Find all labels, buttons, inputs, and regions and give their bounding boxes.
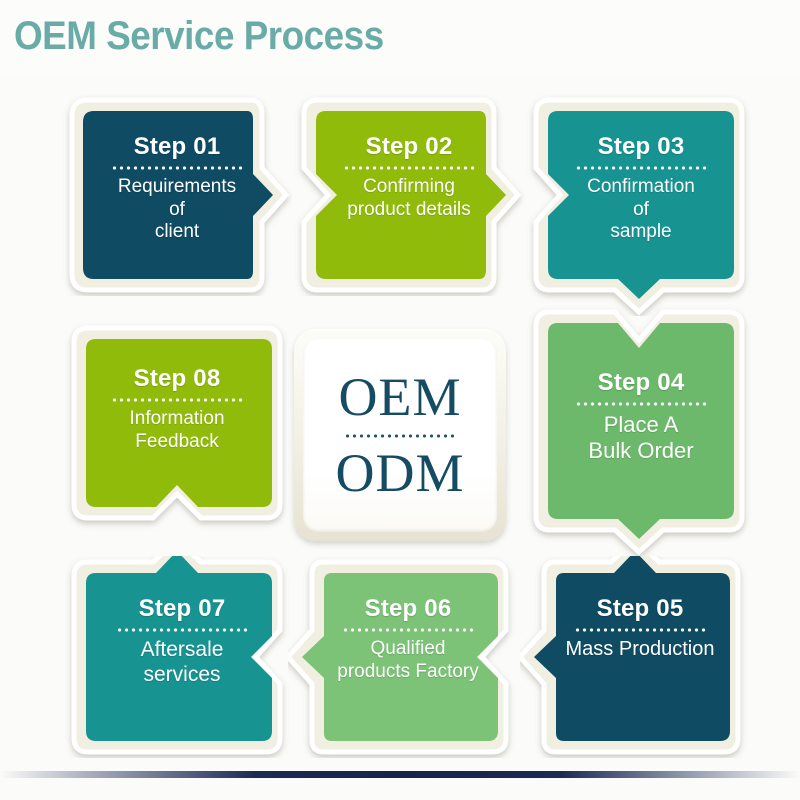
- center-oem-text: OEM: [339, 370, 462, 424]
- process-diagram: Step 01 Requirements of client Step 02 C…: [0, 78, 800, 768]
- center-oem-odm-card: OEM ODM: [294, 329, 506, 541]
- process-step-step-03[interactable]: Step 03 Confirmation of sample: [522, 94, 760, 316]
- center-card-frame: OEM ODM: [294, 329, 506, 541]
- step-02-shape: [290, 94, 528, 296]
- center-card-inner: OEM ODM: [303, 338, 497, 532]
- process-step-step-06[interactable]: Step 06 Qualified products Factory: [288, 556, 528, 758]
- title-bar: OEM Service Process: [0, 0, 800, 78]
- process-step-step-05[interactable]: Step 05 Mass Production: [520, 556, 760, 758]
- process-step-step-04[interactable]: Step 04 Place A Bulk Order: [522, 304, 760, 556]
- process-step-step-01[interactable]: Step 01 Requirements of client: [62, 94, 292, 296]
- page-title: OEM Service Process: [14, 14, 384, 59]
- step-03-shape: [522, 94, 760, 316]
- step-05-shape: [520, 556, 760, 758]
- step-08-shape: [62, 322, 292, 548]
- step-01-shape: [62, 94, 292, 296]
- step-07-shape: [62, 556, 302, 758]
- center-odm-text: ODM: [335, 446, 464, 500]
- center-divider: [344, 434, 456, 438]
- bottom-accent-bar: [0, 771, 800, 778]
- process-step-step-08[interactable]: Step 08 Information Feedback: [62, 322, 292, 548]
- step-06-shape: [288, 556, 528, 758]
- process-step-step-02[interactable]: Step 02 Confirming product details: [290, 94, 528, 296]
- step-04-shape: [522, 304, 760, 556]
- process-step-step-07[interactable]: Step 07 Aftersale services: [62, 556, 302, 758]
